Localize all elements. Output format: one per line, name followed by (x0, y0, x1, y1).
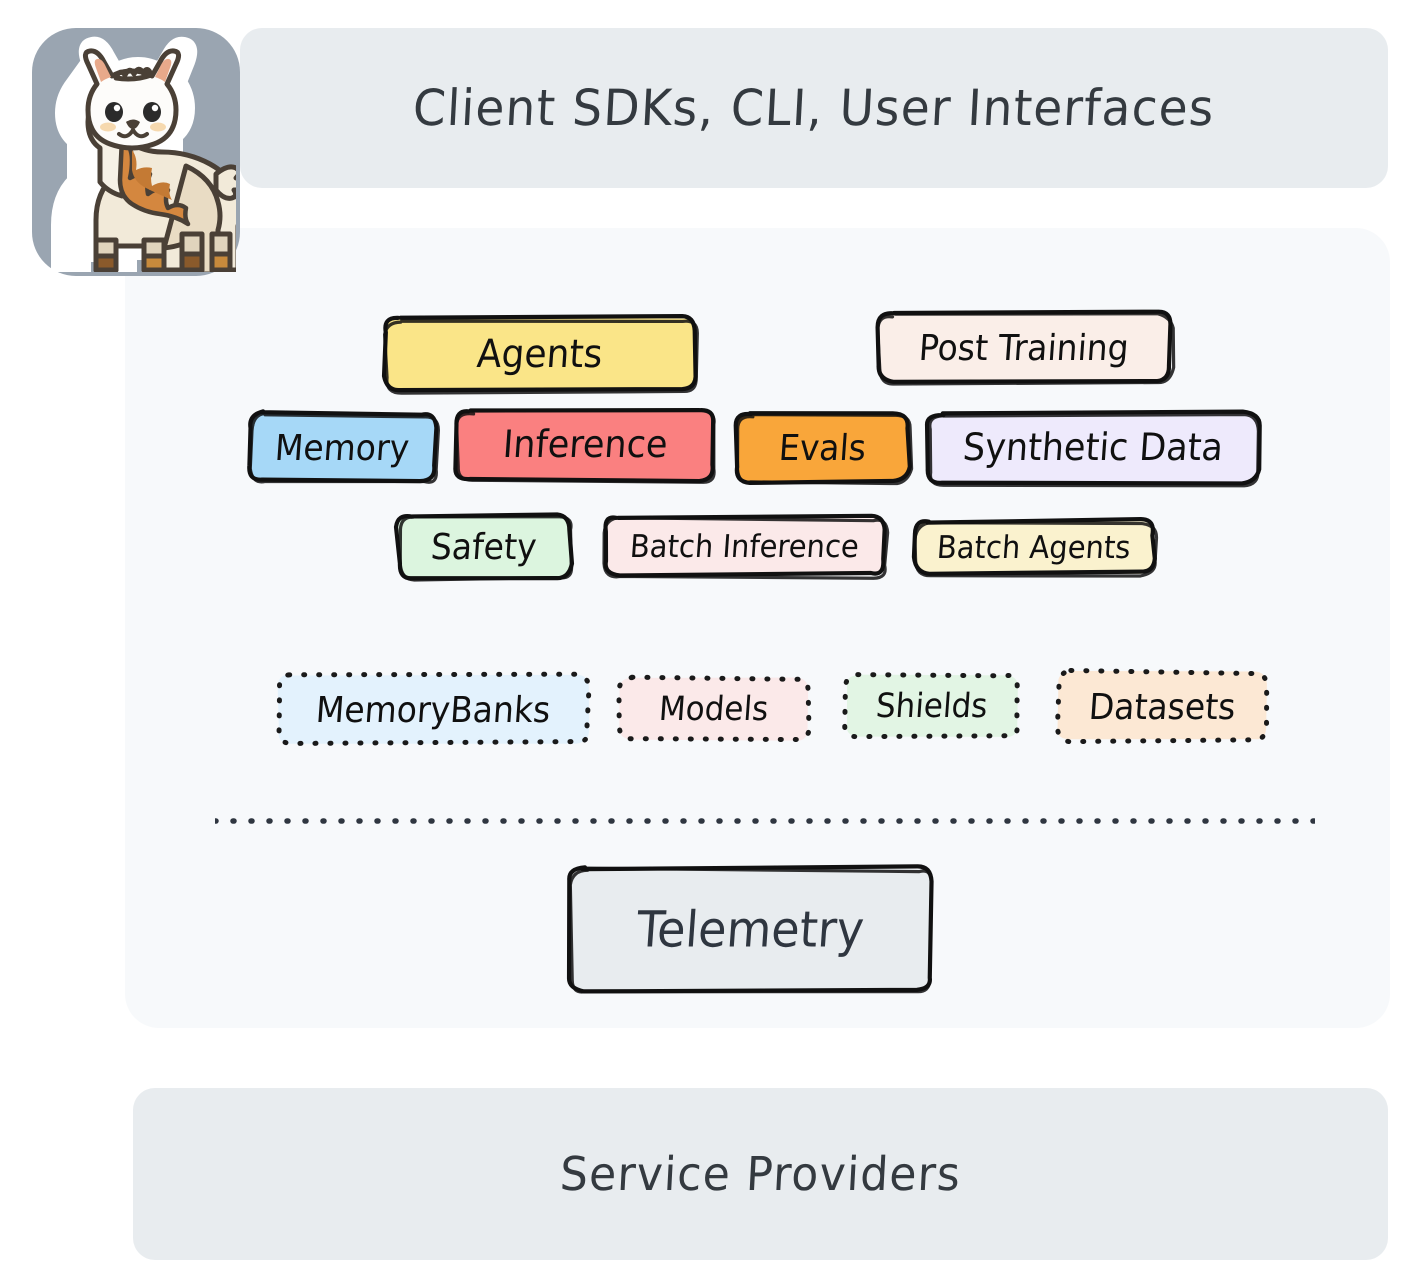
node-label: Post Training (918, 326, 1131, 368)
resource-node-memorybanks[interactable]: MemoryBanks (278, 675, 588, 743)
node-label: Batch Inference (628, 528, 859, 565)
node-label: Models (658, 690, 770, 729)
resource-node-models[interactable]: Models (620, 678, 808, 740)
api-node-batch-inference[interactable]: Batch Inference (604, 517, 884, 575)
service-providers-band: Service Providers (133, 1088, 1388, 1260)
api-node-evals[interactable]: Evals (736, 413, 908, 481)
llama-icon (36, 34, 236, 272)
node-label: Agents (476, 332, 604, 376)
client-sdks-label: Client SDKs, CLI, User Interfaces (412, 79, 1217, 137)
api-node-synthetic-data[interactable]: Synthetic Data (928, 413, 1258, 483)
api-node-safety[interactable]: Safety (398, 515, 570, 577)
node-label: Synthetic Data (962, 426, 1225, 469)
node-label: Datasets (1087, 685, 1236, 727)
api-node-agents[interactable]: Agents (385, 318, 695, 390)
node-label: Shields (875, 687, 989, 726)
client-sdks-band: Client SDKs, CLI, User Interfaces (240, 28, 1388, 188)
resource-node-shields[interactable]: Shields (846, 675, 1018, 737)
service-providers-label: Service Providers (559, 1147, 963, 1201)
telemetry-node[interactable]: Telemetry (570, 868, 930, 990)
api-node-batch-agents[interactable]: Batch Agents (914, 521, 1154, 573)
node-label: Evals (777, 426, 867, 468)
node-label: Batch Agents (936, 529, 1132, 566)
diagram-canvas: Client SDKs, CLI, User Interfaces (0, 0, 1410, 1268)
node-label: Memory (274, 426, 411, 468)
node-label: Telemetry (634, 900, 865, 958)
api-node-memory[interactable]: Memory (250, 413, 435, 481)
section-divider (215, 818, 1315, 824)
node-label: Safety (430, 525, 539, 567)
node-label: MemoryBanks (314, 688, 551, 730)
api-node-inference[interactable]: Inference (456, 410, 714, 480)
api-node-post-training[interactable]: Post Training (878, 313, 1170, 381)
resource-node-datasets[interactable]: Datasets (1058, 672, 1266, 740)
node-label: Inference (501, 423, 669, 466)
llama-logo-tile (32, 28, 240, 276)
